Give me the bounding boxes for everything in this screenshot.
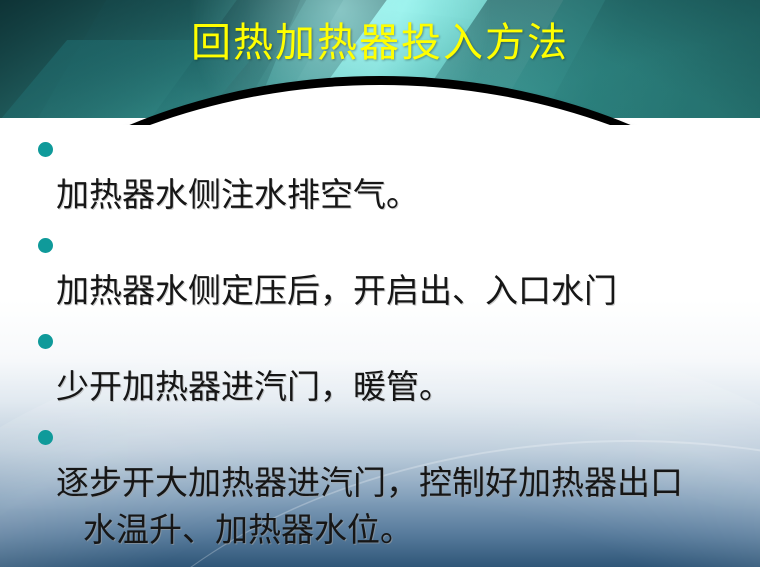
bullet-dot-icon (38, 238, 53, 253)
list-item-line-main: 加热器水侧定压后，开启出、入口水门 (56, 274, 617, 310)
page-title: 回热加热器投入方法 (0, 18, 760, 68)
list-item-text: 逐步开大加热器进汽门，控制好加热器出口 水温升、加热器水位。 (56, 414, 683, 567)
list-item-line-wrap: 水温升、加热器水位。 (56, 508, 683, 555)
bullet-dot-icon (38, 334, 53, 349)
bullet-dot-icon (38, 142, 53, 157)
list-item: 少开加热器进汽门，暖管。 (0, 318, 760, 412)
list-item-text: 少开加热器进汽门，暖管。 (56, 318, 452, 412)
list-item: 加热器水侧定压后，开启出、入口水门 (0, 222, 760, 316)
list-item-line-main: 加热器水侧注水排空气。 (56, 178, 419, 214)
list-item: 逐步开大加热器进汽门，控制好加热器出口 水温升、加热器水位。 (0, 414, 760, 567)
list-item-text: 加热器水侧定压后，开启出、入口水门 (56, 222, 617, 316)
bullet-list: 加热器水侧注水排空气。 加热器水侧定压后，开启出、入口水门 少开加热器进汽门，暖… (0, 126, 760, 567)
list-item-line-main: 少开加热器进汽门，暖管。 (56, 370, 452, 406)
list-item: 加热器水侧注水排空气。 (0, 126, 760, 220)
bullet-dot-icon (38, 430, 53, 445)
slide-canvas: 回热加热器投入方法 加热器水侧注水排空气。 加热器水侧定压后，开启出、入口水门 … (0, 0, 760, 567)
list-item-line-main: 逐步开大加热器进汽门，控制好加热器出口 (56, 466, 683, 502)
list-item-text: 加热器水侧注水排空气。 (56, 126, 419, 220)
